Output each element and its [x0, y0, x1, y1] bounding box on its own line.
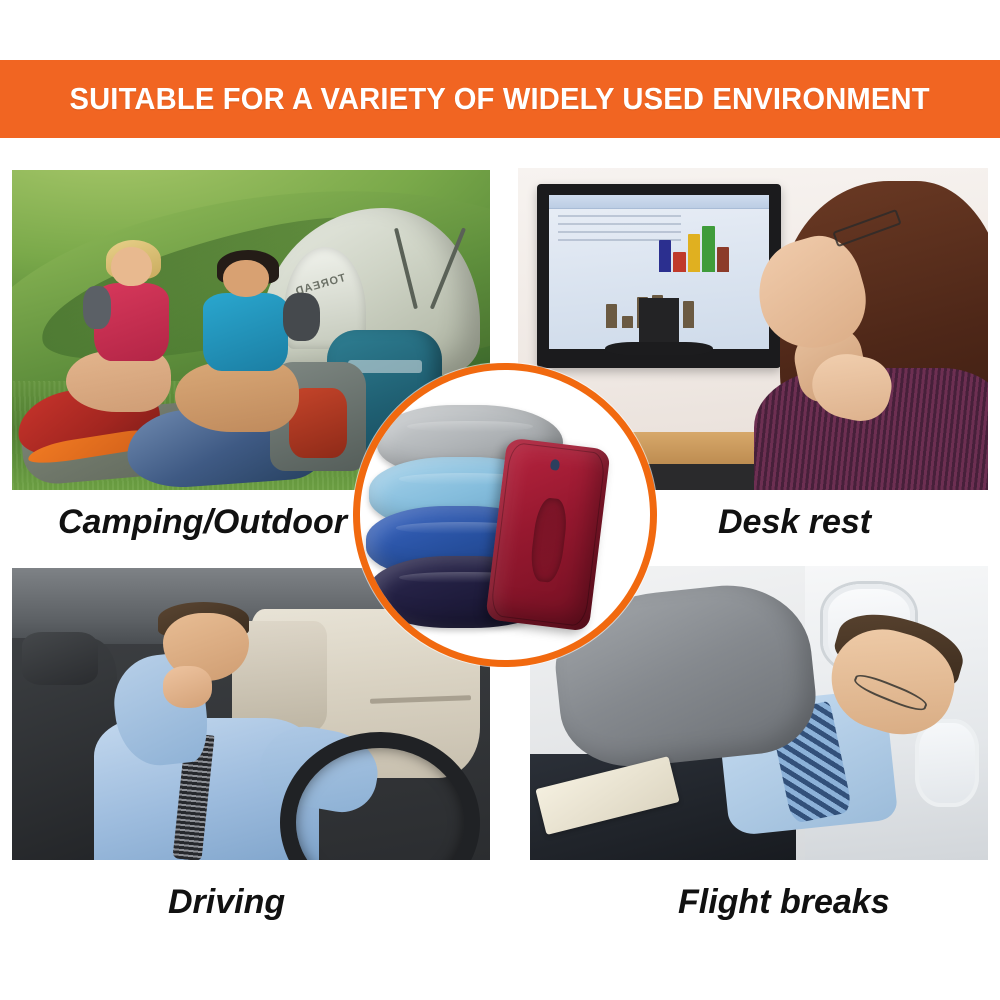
page-title: SUITABLE FOR A VARIETY OF WIDELY USED EN…: [70, 81, 930, 117]
road-horizon: [370, 695, 471, 704]
chart-bar: [717, 247, 729, 272]
header-banner: SUITABLE FOR A VARIETY OF WIDELY USED EN…: [0, 60, 1000, 138]
chart-bar: [702, 226, 714, 272]
chart-bar: [606, 304, 617, 328]
chart-bar: [622, 316, 633, 328]
sleeve: [283, 293, 320, 341]
head: [111, 247, 151, 286]
headrest: [22, 632, 98, 685]
camper-woman: [88, 247, 184, 426]
caption-driving: Driving: [168, 883, 285, 922]
tent-pole: [430, 227, 466, 309]
office-worker: [744, 168, 988, 490]
caption-desk-rest: Desk rest: [718, 503, 871, 542]
pillow-stack: [360, 370, 650, 660]
head: [223, 260, 269, 297]
tent-pole: [394, 227, 418, 309]
infographic-page: SUITABLE FOR A VARIETY OF WIDELY USED EN…: [0, 0, 1000, 1000]
caption-camping: Camping/Outdoor: [58, 503, 347, 542]
hand-on-neck: [163, 666, 211, 708]
chart-bar: [683, 301, 694, 328]
torso: [203, 293, 288, 371]
product-highlight-circle: [353, 363, 657, 667]
chart-bar: [688, 234, 700, 272]
chart-bar: [673, 252, 685, 272]
chart-bar: [659, 240, 671, 272]
monitor-stand-neck: [639, 298, 678, 346]
caption-flight-breaks: Flight breaks: [678, 883, 890, 922]
legs: [175, 362, 299, 433]
bar-chart-upper: [659, 220, 729, 272]
red-pillow: [486, 437, 612, 631]
camper-man: [194, 260, 309, 446]
monitor-stand-base: [605, 342, 713, 355]
spreadsheet-toolbar: [549, 195, 769, 209]
sleeve: [83, 286, 112, 329]
